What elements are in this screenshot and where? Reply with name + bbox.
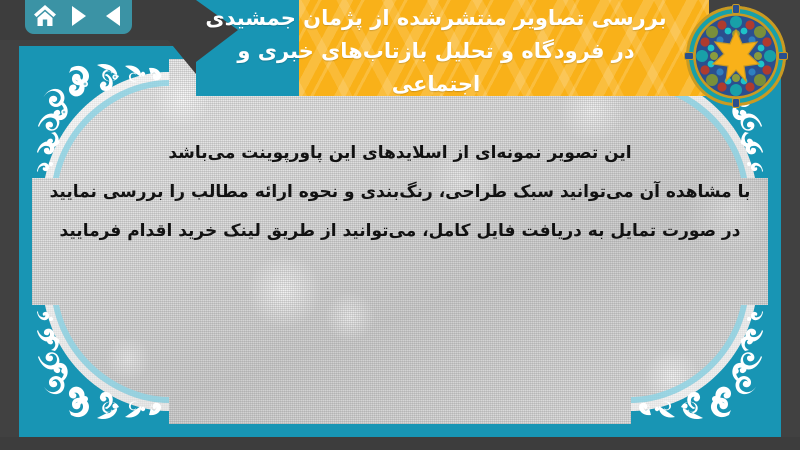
home-button[interactable] xyxy=(32,3,57,28)
islamic-medallion-icon xyxy=(684,4,788,108)
slide-viewer: این تصویر نمونه‌ای از اسلایدهای این پاور… xyxy=(0,0,800,450)
title-line-3: اجتماعی xyxy=(176,68,696,101)
page-title: بررسی تصاویر منتشرشده از پژمان جمشیدی در… xyxy=(176,2,696,101)
navigation-bar xyxy=(25,0,132,34)
title-line-1: بررسی تصاویر منتشرشده از پژمان جمشیدی xyxy=(176,2,696,35)
bottom-strip xyxy=(0,437,800,450)
forward-button[interactable] xyxy=(66,3,91,28)
triangle-left-icon xyxy=(106,6,120,26)
body-line-3: در صورت تمایل به دریافت فایل کامل، می‌تو… xyxy=(40,212,760,251)
body-line-2: با مشاهده آن می‌توانید سبک طراحی، رنگ‌بن… xyxy=(40,173,760,212)
slide-body-text: این تصویر نمونه‌ای از اسلایدهای این پاور… xyxy=(40,134,760,251)
home-icon xyxy=(33,4,57,27)
triangle-right-icon xyxy=(72,6,86,26)
back-button[interactable] xyxy=(100,3,125,28)
body-line-1: این تصویر نمونه‌ای از اسلایدهای این پاور… xyxy=(40,134,760,173)
title-line-2: در فرودگاه و تحلیل بازتاب‌های خبری و xyxy=(176,35,696,68)
